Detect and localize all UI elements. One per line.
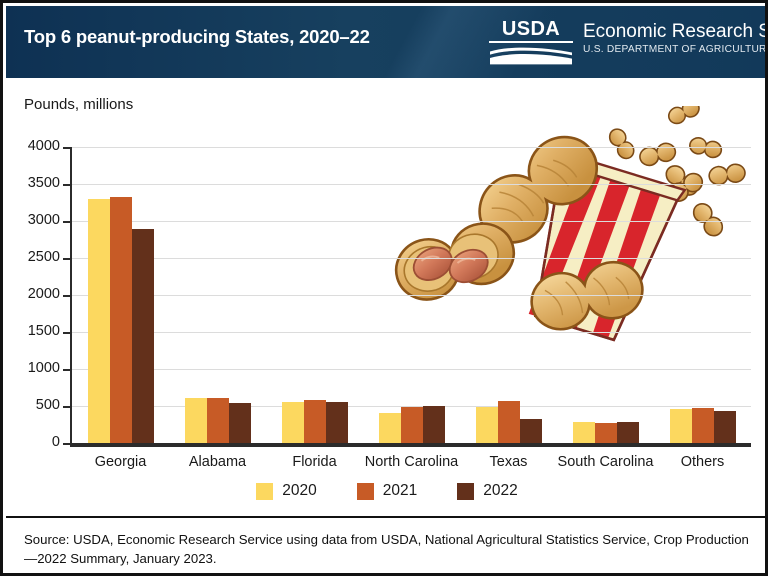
y-tickmark-3000 [63, 221, 70, 223]
x-label-south-carolina: South Carolina [558, 454, 654, 470]
x-label-north-carolina: North Carolina [365, 454, 459, 470]
bar-florida-2021 [304, 400, 326, 443]
bar-north-carolina-2022 [423, 406, 445, 443]
y-tickmark-1000 [63, 369, 70, 371]
bar-georgia-2022 [132, 229, 154, 443]
x-label-georgia: Georgia [95, 454, 147, 470]
bar-texas-2021 [498, 401, 520, 443]
bar-florida-2022 [326, 402, 348, 443]
gridline-3000 [72, 221, 751, 222]
bar-north-carolina-2021 [401, 407, 423, 443]
y-tickmark-2000 [63, 295, 70, 297]
x-label-others: Others [681, 454, 725, 470]
usda-logo-mark: USDA [489, 19, 573, 65]
bar-texas-2022 [520, 419, 542, 443]
chart-container: Pounds, millions [6, 78, 768, 516]
y-tickmark-2500 [63, 258, 70, 260]
y-tickmark-3500 [63, 184, 70, 186]
legend-item-2020[interactable]: 2020 [256, 482, 316, 500]
page-header: Top 6 peanut-producing States, 2020–22 U… [6, 6, 768, 78]
y-tickmark-500 [63, 406, 70, 408]
department-name: U.S. DEPARTMENT OF AGRICULTURE [583, 43, 768, 57]
bar-florida-2020 [282, 402, 304, 443]
legend-item-2022[interactable]: 2022 [457, 482, 517, 500]
gridline-1000 [72, 369, 751, 370]
usda-wordmark: USDA [489, 19, 573, 43]
bar-others-2022 [714, 411, 736, 443]
legend-item-2021[interactable]: 2021 [357, 482, 417, 500]
legend-label-2020: 2020 [282, 482, 316, 500]
y-tick-0: 0 [6, 434, 60, 450]
bar-south-carolina-2021 [595, 423, 617, 443]
bar-georgia-2021 [110, 197, 132, 443]
bar-north-carolina-2020 [379, 413, 401, 443]
chart-legend: 202020212022 [6, 482, 768, 500]
bar-georgia-2020 [88, 199, 110, 443]
gridline-4000 [72, 147, 751, 148]
bar-alabama-2022 [229, 403, 251, 443]
y-tick-1000: 1000 [6, 360, 60, 376]
y-tickmark-4000 [63, 147, 70, 149]
source-note: Source: USDA, Economic Research Service … [24, 530, 749, 568]
gridline-1500 [72, 332, 751, 333]
bar-south-carolina-2020 [573, 422, 595, 443]
usda-logo-lockup: USDA Economic Research Service U.S. DEPA… [489, 19, 768, 65]
chart-page: Top 6 peanut-producing States, 2020–22 U… [0, 0, 768, 576]
bar-others-2021 [692, 408, 714, 443]
y-tick-500: 500 [6, 397, 60, 413]
x-label-alabama: Alabama [189, 454, 246, 470]
gridline-3500 [72, 184, 751, 185]
legend-swatch-2020 [256, 483, 273, 500]
y-tick-2500: 2500 [6, 249, 60, 265]
gridline-2500 [72, 258, 751, 259]
bar-others-2020 [670, 409, 692, 443]
x-axis-line [70, 443, 751, 447]
y-tick-1500: 1500 [6, 323, 60, 339]
usda-swoosh-icon [489, 46, 573, 65]
y-tick-4000: 4000 [6, 138, 60, 154]
bar-south-carolina-2022 [617, 422, 639, 443]
bar-alabama-2020 [185, 398, 207, 444]
page-footer: Source: USDA, Economic Research Service … [6, 518, 768, 576]
legend-label-2022: 2022 [483, 482, 517, 500]
y-tick-3500: 3500 [6, 175, 60, 191]
plot-area [72, 147, 751, 443]
legend-label-2021: 2021 [383, 482, 417, 500]
y-tickmark-0 [63, 443, 70, 445]
y-tickmark-1500 [63, 332, 70, 334]
agency-text-block: Economic Research Service U.S. DEPARTMEN… [583, 19, 768, 57]
y-tick-2000: 2000 [6, 286, 60, 302]
x-label-texas: Texas [490, 454, 528, 470]
page-title: Top 6 peanut-producing States, 2020–22 [24, 26, 370, 48]
gridline-2000 [72, 295, 751, 296]
legend-swatch-2022 [457, 483, 474, 500]
y-tick-3000: 3000 [6, 212, 60, 228]
x-label-florida: Florida [292, 454, 336, 470]
y-axis-line [70, 147, 72, 444]
legend-swatch-2021 [357, 483, 374, 500]
bar-alabama-2021 [207, 398, 229, 443]
bar-texas-2020 [476, 407, 498, 443]
agency-name: Economic Research Service [583, 20, 768, 43]
y-axis-tick-labels: 4000 3500 3000 2500 2000 1500 1000 500 0 [6, 78, 60, 516]
